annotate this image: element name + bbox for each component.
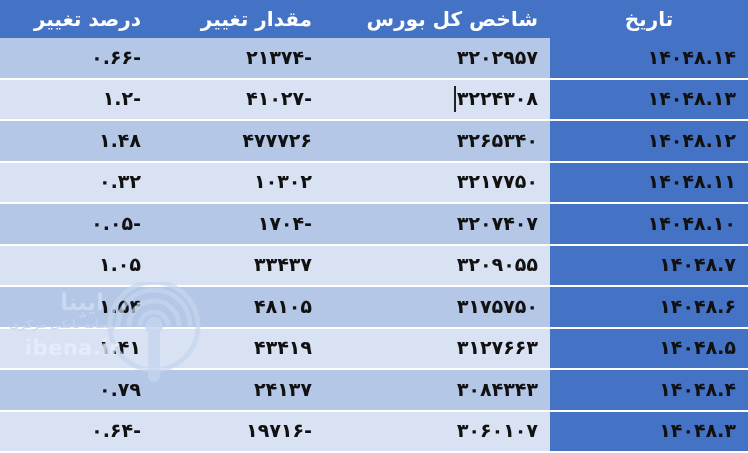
stock-index-table-container: تاریخ شاخص کل بورس مقدار تغییر درصد تغیی… [0, 0, 748, 435]
column-header-percent[interactable]: درصد تغییر [0, 0, 153, 38]
cell-index-editing[interactable]: ۳۲۲۴۳۰۸ [324, 79, 550, 121]
cell-index[interactable]: ۳۲۶۵۳۴۰ [324, 120, 550, 162]
cell-index[interactable]: ۳۱۷۵۷۵۰ [324, 286, 550, 328]
table-row[interactable]: ۱۴۰۴۸.۵۳۱۲۷۶۶۳۴۳۴۱۹۱.۴۱ [0, 328, 748, 370]
cell-index[interactable]: ۳۲۰۹۰۵۵ [324, 245, 550, 287]
table-header: تاریخ شاخص کل بورس مقدار تغییر درصد تغیی… [0, 0, 748, 38]
cell-change-amount[interactable]: ۴۷۷۷۲۶ [153, 120, 324, 162]
table-header-row: تاریخ شاخص کل بورس مقدار تغییر درصد تغیی… [0, 0, 748, 38]
table-row[interactable]: ۱۴۰۴۸.۳۳۰۶۰۱۰۷-۱۹۷۱۶-۰.۶۴ [0, 411, 748, 453]
cell-change-amount[interactable]: -۲۱۳۷۴ [153, 38, 324, 79]
cell-index[interactable]: ۳۲۰۷۴۰۷ [324, 203, 550, 245]
cell-change-percent[interactable]: ۱.۵۴ [0, 286, 153, 328]
cell-change-amount[interactable]: ۴۳۴۱۹ [153, 328, 324, 370]
cell-change-percent[interactable]: ۱.۴۸ [0, 120, 153, 162]
cell-index[interactable]: ۳۲۱۷۷۵۰ [324, 162, 550, 204]
cell-date[interactable]: ۱۴۰۴۸.۱۰ [550, 203, 748, 245]
cell-change-percent[interactable]: -۱.۲ [0, 79, 153, 121]
cell-date[interactable]: ۱۴۰۴۸.۳ [550, 411, 748, 453]
cell-date[interactable]: ۱۴۰۴۸.۶ [550, 286, 748, 328]
stock-index-table: تاریخ شاخص کل بورس مقدار تغییر درصد تغیی… [0, 0, 748, 453]
text-cursor [454, 86, 456, 112]
cell-index-value: ۳۲۲۴۳۰۸ [457, 88, 538, 110]
table-row[interactable]: ۱۴۰۴۸.۶۳۱۷۵۷۵۰۴۸۱۰۵۱.۵۴ [0, 286, 748, 328]
table-row[interactable]: ۱۴۰۴۸.۱۲۳۲۶۵۳۴۰۴۷۷۷۲۶۱.۴۸ [0, 120, 748, 162]
cell-index[interactable]: ۳۰۸۴۳۴۳ [324, 369, 550, 411]
cell-date[interactable]: ۱۴۰۴۸.۱۴ [550, 38, 748, 79]
table-row[interactable]: ۱۴۰۴۸.۴۳۰۸۴۳۴۳۲۴۱۳۷۰.۷۹ [0, 369, 748, 411]
cell-change-percent[interactable]: ۰.۷۹ [0, 369, 153, 411]
cell-date[interactable]: ۱۴۰۴۸.۷ [550, 245, 748, 287]
column-header-change[interactable]: مقدار تغییر [153, 0, 324, 38]
cell-change-percent[interactable]: -۰.۰۵ [0, 203, 153, 245]
cell-change-percent[interactable]: ۱.۰۵ [0, 245, 153, 287]
cell-date[interactable]: ۱۴۰۴۸.۴ [550, 369, 748, 411]
cell-change-amount[interactable]: -۱۹۷۱۶ [153, 411, 324, 453]
column-header-index[interactable]: شاخص کل بورس [324, 0, 550, 38]
cell-date[interactable]: ۱۴۰۴۸.۱۳ [550, 79, 748, 121]
cell-change-percent[interactable]: ۱.۴۱ [0, 328, 153, 370]
cell-change-amount[interactable]: ۳۳۴۳۷ [153, 245, 324, 287]
cell-index[interactable]: ۳۱۲۷۶۶۳ [324, 328, 550, 370]
cell-index[interactable]: ۳۰۶۰۱۰۷ [324, 411, 550, 453]
table-row[interactable]: ۱۴۰۴۸.۷۳۲۰۹۰۵۵۳۳۴۳۷۱.۰۵ [0, 245, 748, 287]
table-row[interactable]: ۱۴۰۴۸.۱۰۳۲۰۷۴۰۷-۱۷۰۴-۰.۰۵ [0, 203, 748, 245]
cell-date[interactable]: ۱۴۰۴۸.۱۲ [550, 120, 748, 162]
cell-change-amount[interactable]: -۴۱۰۲۷ [153, 79, 324, 121]
table-row[interactable]: ۱۴۰۴۸.۱۴۳۲۰۲۹۵۷-۲۱۳۷۴-۰.۶۶ [0, 38, 748, 79]
cell-date[interactable]: ۱۴۰۴۸.۵ [550, 328, 748, 370]
cell-date[interactable]: ۱۴۰۴۸.۱۱ [550, 162, 748, 204]
column-header-date[interactable]: تاریخ [550, 0, 748, 38]
table-body: ۱۴۰۴۸.۱۴۳۲۰۲۹۵۷-۲۱۳۷۴-۰.۶۶۱۴۰۴۸.۱۳۳۲۲۴۳۰… [0, 38, 748, 452]
cell-change-amount[interactable]: -۱۷۰۴ [153, 203, 324, 245]
table-row[interactable]: ۱۴۰۴۸.۱۱۳۲۱۷۷۵۰۱۰۳۰۲۰.۳۲ [0, 162, 748, 204]
cell-change-percent[interactable]: ۰.۳۲ [0, 162, 153, 204]
cell-change-percent[interactable]: -۰.۶۴ [0, 411, 153, 453]
cell-change-amount[interactable]: ۲۴۱۳۷ [153, 369, 324, 411]
cell-change-amount[interactable]: ۴۸۱۰۵ [153, 286, 324, 328]
cell-change-percent[interactable]: -۰.۶۶ [0, 38, 153, 79]
cell-index[interactable]: ۳۲۰۲۹۵۷ [324, 38, 550, 79]
cell-change-amount[interactable]: ۱۰۳۰۲ [153, 162, 324, 204]
table-row[interactable]: ۱۴۰۴۸.۱۳۳۲۲۴۳۰۸-۴۱۰۲۷-۱.۲ [0, 79, 748, 121]
